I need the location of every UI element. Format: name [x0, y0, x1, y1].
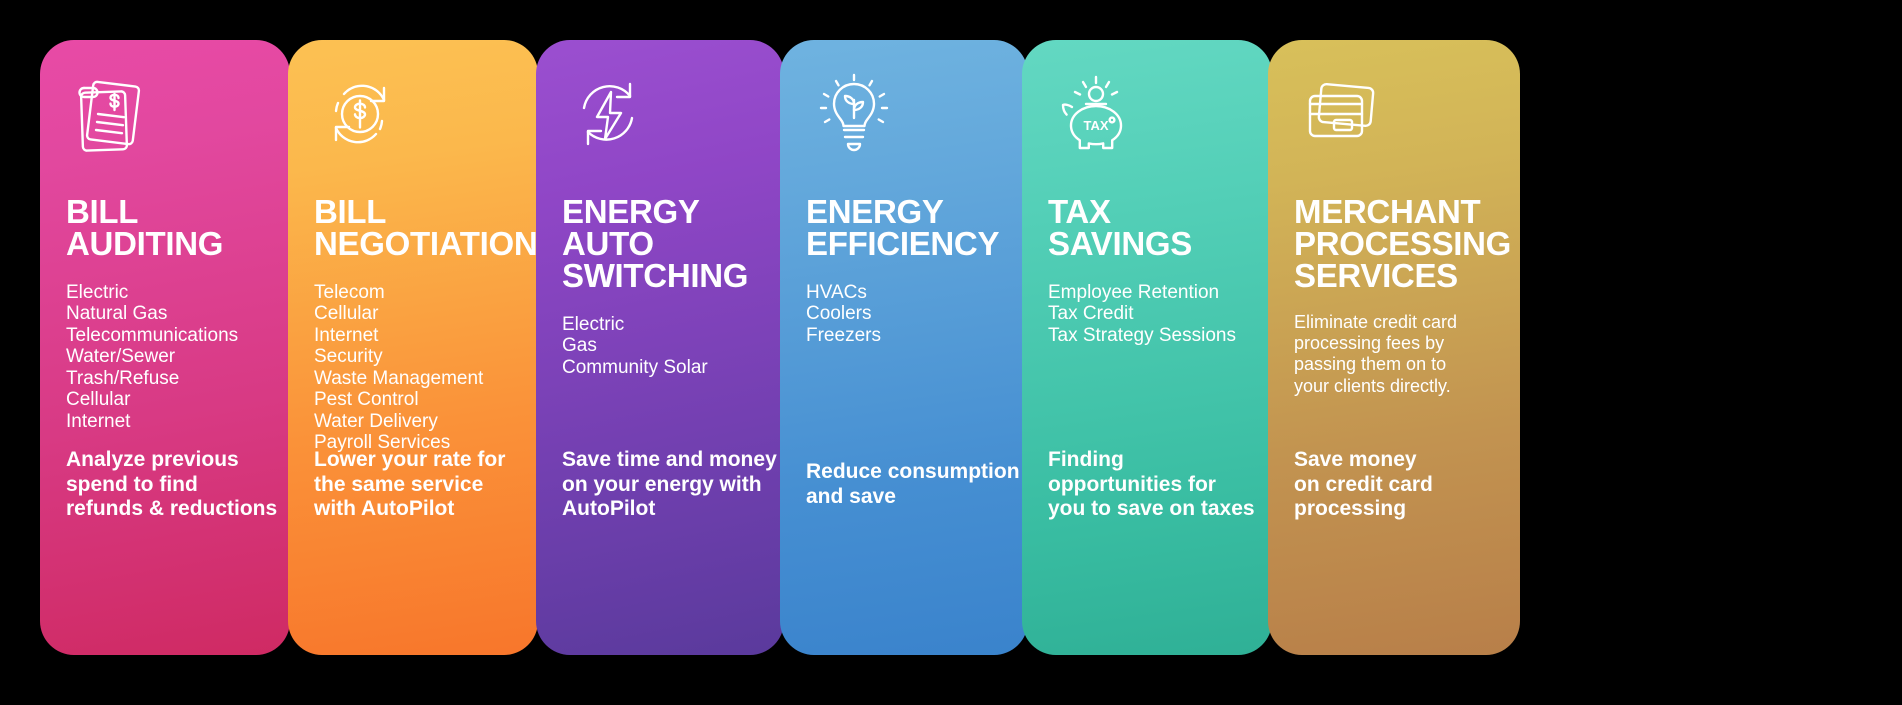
- document-dollar-icon: [68, 70, 160, 162]
- card-tax-savings[interactable]: TAX TAX SAVINGS Employee Retention Tax C…: [1022, 40, 1272, 655]
- card-merchant-processing-services[interactable]: MERCHANT PROCESSING SERVICES Eliminate c…: [1268, 40, 1520, 655]
- card-bill-negotiation[interactable]: BILL NEGOTIATION Telecom Cellular Intern…: [288, 40, 538, 655]
- list-item: Freezers: [806, 325, 1002, 346]
- card-tagline: Save time and money on your energy with …: [562, 448, 777, 522]
- card-energy-auto-switching[interactable]: ENERGY AUTO SWITCHING Electric Gas Commu…: [536, 40, 784, 655]
- list-item: Water/Sewer: [66, 346, 264, 367]
- list-item: Gas: [562, 335, 758, 356]
- card-item-list: Employee Retention Tax Credit Tax Strate…: [1048, 282, 1246, 346]
- dollar-refresh-icon: [316, 70, 408, 162]
- list-item: Cellular: [314, 303, 512, 324]
- credit-cards-icon: [1296, 70, 1388, 162]
- card-title: MERCHANT PROCESSING SERVICES: [1294, 196, 1494, 292]
- list-item: Community Solar: [562, 357, 758, 378]
- card-item-list: Telecom Cellular Internet Security Waste…: [314, 282, 512, 454]
- list-item: Internet: [314, 325, 512, 346]
- list-item: Internet: [66, 411, 264, 432]
- list-item: Water Delivery: [314, 411, 512, 432]
- card-tagline: Finding opportunities for you to save on…: [1048, 448, 1255, 522]
- list-item: Telecom: [314, 282, 512, 303]
- list-item: Tax Strategy Sessions: [1048, 325, 1246, 346]
- card-tagline: Lower your rate for the same service wit…: [314, 448, 505, 522]
- list-item: Security: [314, 346, 512, 367]
- list-item: Cellular: [66, 389, 264, 410]
- card-title: BILL NEGOTIATION: [314, 196, 512, 260]
- card-tagline: Reduce consumption and save: [806, 460, 1020, 509]
- list-item: Tax Credit: [1048, 303, 1246, 324]
- card-tagline: Save money on credit card processing: [1294, 448, 1433, 522]
- services-cards-graphic: BILL AUDITING Electric Natural Gas Telec…: [0, 0, 1902, 705]
- list-item: Waste Management: [314, 368, 512, 389]
- svg-text:TAX: TAX: [1083, 118, 1108, 133]
- list-item: Electric: [562, 314, 758, 335]
- card-title: ENERGY EFFICIENCY: [806, 196, 1002, 260]
- card-item-list: Electric Gas Community Solar: [562, 314, 758, 378]
- card-bill-auditing[interactable]: BILL AUDITING Electric Natural Gas Telec…: [40, 40, 290, 655]
- card-item-list: HVACs Coolers Freezers: [806, 282, 1002, 346]
- card-title: TAX SAVINGS: [1048, 196, 1246, 260]
- list-item: Natural Gas: [66, 303, 264, 324]
- card-title: BILL AUDITING: [66, 196, 264, 260]
- list-item: HVACs: [806, 282, 1002, 303]
- card-item-list: Electric Natural Gas Telecommunications …: [66, 282, 264, 432]
- energy-bolt-refresh-icon: [564, 70, 656, 162]
- list-item: Trash/Refuse: [66, 368, 264, 389]
- card-description: Eliminate credit card processing fees by…: [1294, 312, 1484, 397]
- card-energy-efficiency[interactable]: ENERGY EFFICIENCY HVACs Coolers Freezers…: [780, 40, 1028, 655]
- piggy-bank-tax-icon: TAX: [1050, 70, 1142, 162]
- card-tagline: Analyze previous spend to find refunds &…: [66, 448, 277, 522]
- list-item: Employee Retention: [1048, 282, 1246, 303]
- card-title: ENERGY AUTO SWITCHING: [562, 196, 758, 292]
- list-item: Pest Control: [314, 389, 512, 410]
- list-item: Coolers: [806, 303, 1002, 324]
- list-item: Telecommunications: [66, 325, 264, 346]
- list-item: Electric: [66, 282, 264, 303]
- lightbulb-leaf-icon: [808, 70, 900, 162]
